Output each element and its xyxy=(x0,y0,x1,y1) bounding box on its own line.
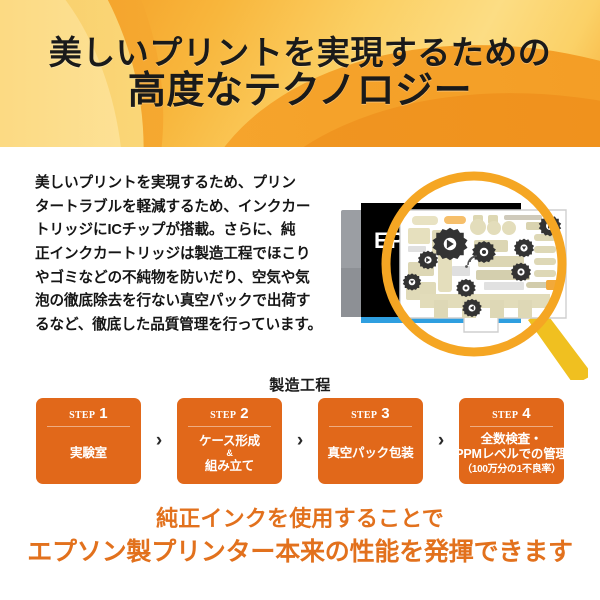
step-prefix-label: STEP xyxy=(351,411,377,421)
step-line-note: （100万分の1不良率） xyxy=(462,462,561,476)
step-body: ケース形成 & 組み立て xyxy=(180,431,279,477)
promotional-banner: 美しいプリントを実現するための 高度なテクノロジー 美しいプリントを実現するため… xyxy=(0,0,600,600)
cartridge-side-tab-lower xyxy=(341,268,363,317)
step-prefix-label: STEP xyxy=(492,411,518,421)
step-divider xyxy=(188,426,271,427)
footer-message: 純正インクを使用することで エプソン製プリンター本来の性能を発揮できます xyxy=(0,505,600,568)
step-body: 実験室 xyxy=(39,431,138,477)
step-divider xyxy=(470,426,553,427)
paragraph-line: 正インクカートリッジは製造工程でほこり xyxy=(35,243,335,267)
step-divider xyxy=(47,426,130,427)
step-number: 1 xyxy=(99,406,108,421)
step-prefix-label: STEP xyxy=(69,411,95,421)
header-title-group: 美しいプリントを実現するための 高度なテクノロジー xyxy=(0,0,600,147)
step-line: PPMレベルでの管理 xyxy=(455,447,568,462)
process-steps: STEP 1 実験室 › STEP 2 ケース形成 & 組み立て › xyxy=(36,398,564,484)
step-line: 組み立て xyxy=(205,459,254,474)
step-separator-chevron-1: › xyxy=(141,398,177,484)
process-step-3[interactable]: STEP 3 真空パック包装 xyxy=(318,398,423,484)
step-number: 4 xyxy=(522,406,531,421)
step-number: 2 xyxy=(240,406,249,421)
step-divider xyxy=(329,426,412,427)
header-banner: 美しいプリントを実現するための 高度なテクノロジー xyxy=(0,0,600,147)
process-step-1[interactable]: STEP 1 実験室 xyxy=(36,398,141,484)
paragraph-line: 美しいプリントを実現するため、プリン xyxy=(35,172,335,196)
step-body: 全数検査・ PPMレベルでの管理 （100万分の1不良率） xyxy=(462,431,561,477)
step-header: STEP 2 xyxy=(210,404,249,426)
header-title-line-1: 美しいプリントを実現するための xyxy=(49,36,552,70)
step-line: 真空パック包装 xyxy=(327,446,413,461)
body-paragraph: 美しいプリントを実現するため、プリン タートラブルを軽減するため、インクカー ト… xyxy=(35,172,335,337)
step-number: 3 xyxy=(381,406,390,421)
paragraph-line: 泡の徹底除去を行ない真空パックで出荷す xyxy=(35,290,335,314)
step-header: STEP 1 xyxy=(69,404,108,426)
step-header: STEP 3 xyxy=(351,404,390,426)
footer-line-2: エプソン製プリンター本来の性能を発揮できます xyxy=(0,536,600,569)
header-title-line-2: 高度なテクノロジー xyxy=(128,72,472,112)
paragraph-line: やゴミなどの不純物を防いだり、空気や気 xyxy=(35,267,335,291)
step-header: STEP 4 xyxy=(492,404,531,426)
step-body: 真空パック包装 xyxy=(321,431,420,477)
paragraph-line: タートラブルを軽減するため、インクカー xyxy=(35,196,335,220)
step-separator-chevron-3: › xyxy=(423,398,459,484)
step-line: 全数検査・ xyxy=(481,432,543,447)
paragraph-line: トリッジにICチップが搭載。さらに、純 xyxy=(35,219,335,243)
cartridge-magnifier-illustration: EP xyxy=(330,168,600,380)
process-step-4[interactable]: STEP 4 全数検査・ PPMレベルでの管理 （100万分の1不良率） xyxy=(459,398,564,484)
magnifier-icon xyxy=(378,170,588,380)
process-step-2[interactable]: STEP 2 ケース形成 & 組み立て xyxy=(177,398,282,484)
step-prefix-label: STEP xyxy=(210,411,236,421)
step-line: 実験室 xyxy=(70,446,107,461)
footer-line-1: 純正インクを使用することで xyxy=(0,505,600,534)
step-separator-chevron-2: › xyxy=(282,398,318,484)
paragraph-line: るなど、徹底した品質管理を行っています。 xyxy=(35,314,335,338)
process-section-title: 製造工程 xyxy=(0,374,600,395)
step-line: ケース形成 xyxy=(199,434,260,449)
step-line: & xyxy=(226,449,232,459)
